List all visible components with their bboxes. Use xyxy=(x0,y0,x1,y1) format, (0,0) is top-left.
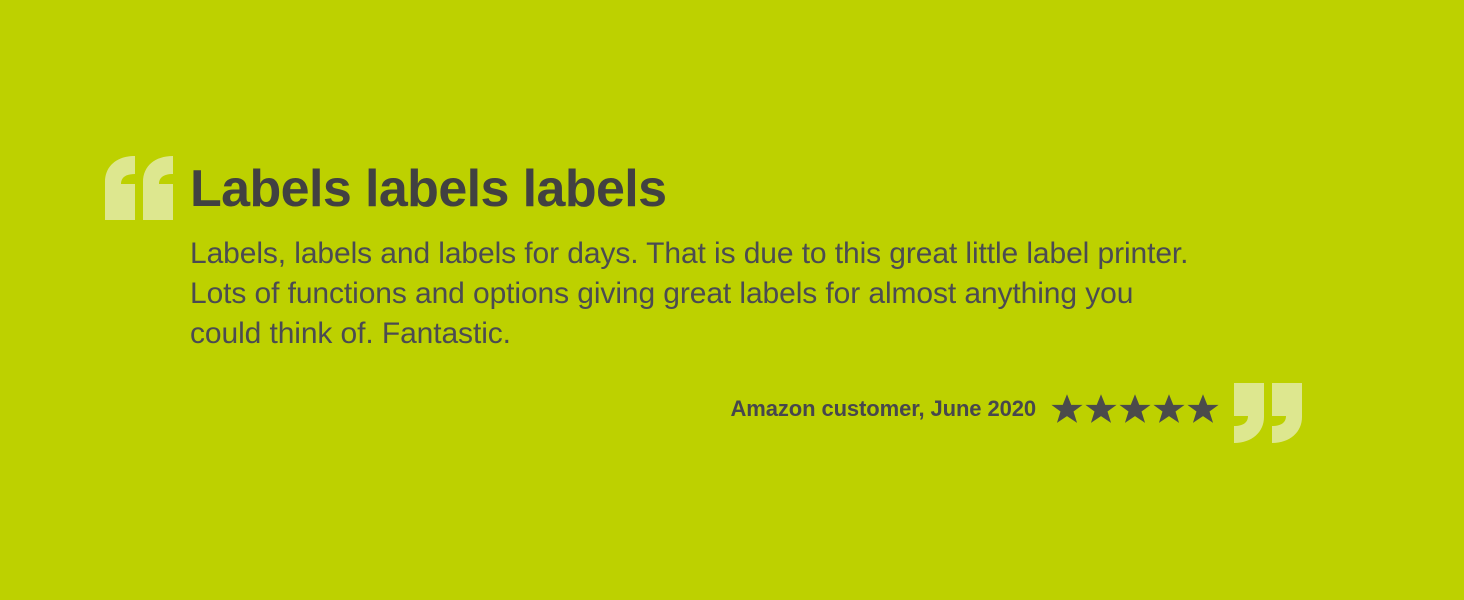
star-filled-icon xyxy=(1186,392,1220,426)
star-filled-icon xyxy=(1084,392,1118,426)
attribution-label: Amazon customer, June 2020 xyxy=(730,394,1036,424)
testimonial-card: Labels labels labels Labels, labels and … xyxy=(0,0,1464,600)
quote-open-icon xyxy=(105,156,175,220)
testimonial-body: Labels, labels and labels for days. That… xyxy=(190,220,1202,354)
attribution-row: Amazon customer, June 2020 xyxy=(190,392,1220,426)
star-filled-icon xyxy=(1118,392,1152,426)
quote-close-icon xyxy=(1234,383,1302,443)
rating-stars xyxy=(1050,392,1220,426)
star-filled-icon xyxy=(1152,392,1186,426)
star-filled-icon xyxy=(1050,392,1084,426)
testimonial-content: Labels labels labels Labels, labels and … xyxy=(190,158,1250,354)
testimonial-title: Labels labels labels xyxy=(190,158,1250,220)
